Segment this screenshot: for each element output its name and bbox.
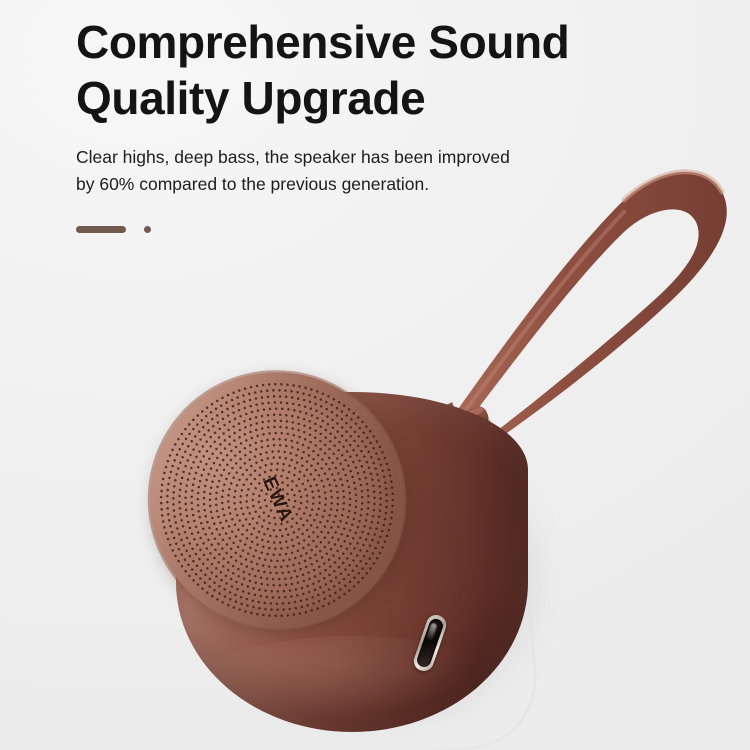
product-image-canvas: EWA Comprehensive Sound Quality Upgrade … <box>0 0 750 750</box>
copy-block: Comprehensive Sound Quality Upgrade Clea… <box>76 14 686 198</box>
subtitle-text: Clear highs, deep bass, the speaker has … <box>76 144 686 198</box>
decorative-divider <box>76 226 151 233</box>
page-title: Comprehensive Sound Quality Upgrade <box>76 14 686 126</box>
divider-dot <box>144 226 151 233</box>
divider-dash <box>76 226 126 233</box>
